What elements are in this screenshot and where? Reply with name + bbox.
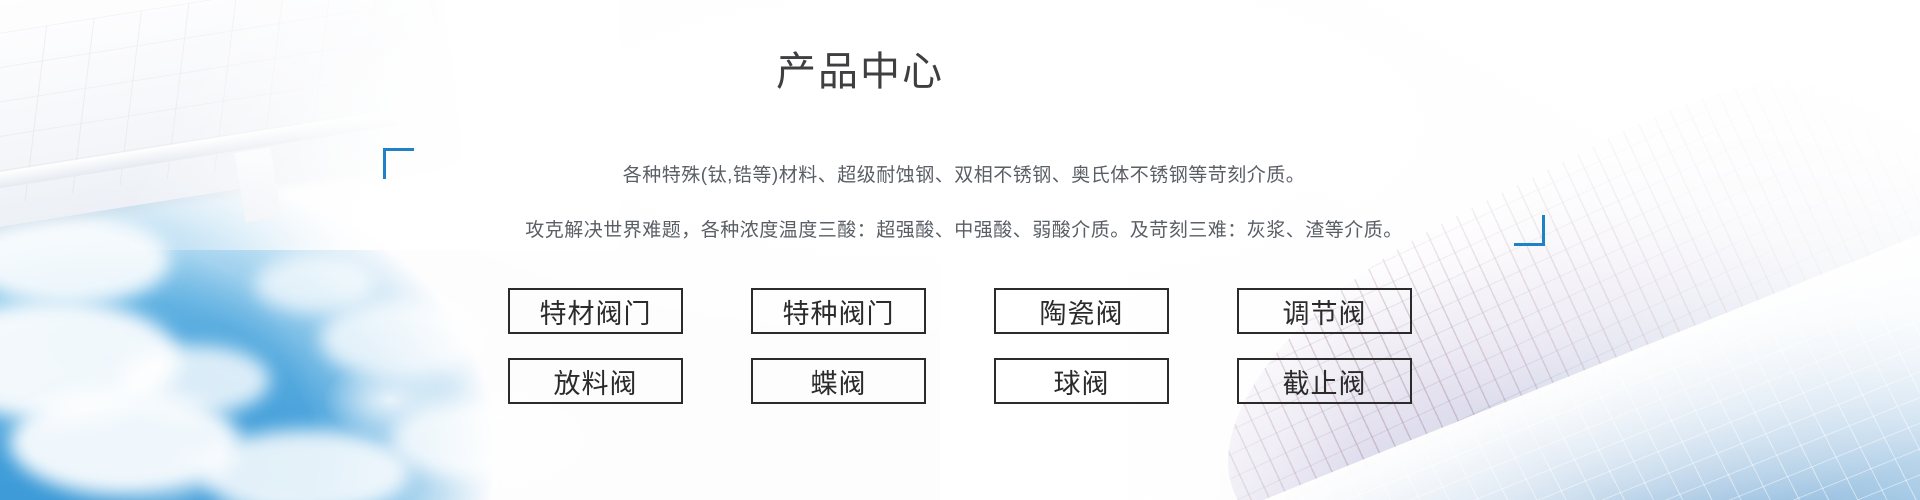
description-line-2: 攻克解决世界难题，各种浓度温度三酸：超强酸、中强酸、弱酸介质。及苛刻三难：灰浆、… xyxy=(325,215,1603,242)
product-button-discharge-valve[interactable]: 放料阀 xyxy=(508,358,683,404)
product-button-special-valve[interactable]: 特种阀门 xyxy=(751,288,926,334)
product-button-ball-valve[interactable]: 球阀 xyxy=(994,358,1169,404)
product-button-ceramic-valve[interactable]: 陶瓷阀 xyxy=(994,288,1169,334)
product-button-butterfly-valve[interactable]: 蝶阀 xyxy=(751,358,926,404)
product-button-techai-valve[interactable]: 特材阀门 xyxy=(508,288,683,334)
hero-content: 产品中心 各种特殊(钛,锆等)材料、超级耐蚀钢、双相不锈钢、奥氏体不锈钢等苛刻介… xyxy=(0,0,1920,500)
description-block: 各种特殊(钛,锆等)材料、超级耐蚀钢、双相不锈钢、奥氏体不锈钢等苛刻介质。 攻克… xyxy=(383,140,1545,238)
product-category-grid: 特材阀门 特种阀门 陶瓷阀 调节阀 放料阀 蝶阀 球阀 截止阀 xyxy=(508,288,1412,404)
hero-banner: 产品中心 各种特殊(钛,锆等)材料、超级耐蚀钢、双相不锈钢、奥氏体不锈钢等苛刻介… xyxy=(0,0,1920,500)
page-title: 产品中心 xyxy=(0,52,1820,92)
product-button-control-valve[interactable]: 调节阀 xyxy=(1237,288,1412,334)
description-line-1: 各种特殊(钛,锆等)材料、超级耐蚀钢、双相不锈钢、奥氏体不锈钢等苛刻介质。 xyxy=(383,160,1545,187)
product-button-globe-valve[interactable]: 截止阀 xyxy=(1237,358,1412,404)
